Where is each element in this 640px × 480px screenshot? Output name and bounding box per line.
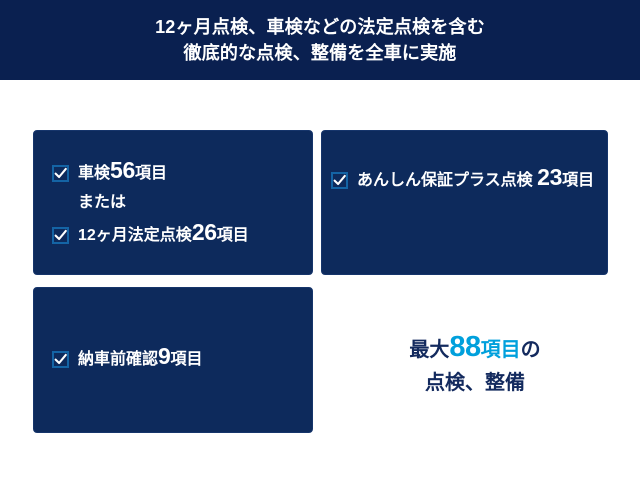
warranty-count-line: 23項目 (537, 172, 594, 189)
list-item-count: 26 (192, 219, 217, 245)
list-item: 車検56項目 (52, 158, 300, 186)
summary-total: 最大88項目の 点検、整備 (330, 330, 620, 399)
list-item: 12ヶ月法定点検26項目 (52, 220, 300, 248)
warranty-count: 23 (537, 164, 562, 190)
card-warranty-plus-inspection: あんしん保証プラス点検 23項目 (321, 130, 608, 275)
list-item-label-text: 車検 (78, 165, 110, 182)
header-title-line-1: 12ヶ月点検、車検などの法定点検を含む (155, 14, 485, 40)
card-warranty-plus-inspection-content: あんしん保証プラス点検 23項目 (331, 161, 597, 198)
list-item: 納車前確認9項目 (52, 344, 300, 372)
warranty-title: あんしん保証プラス点検 (357, 172, 533, 189)
list-item-label: あんしん保証プラス点検 23項目 (357, 161, 594, 198)
summary-suffix: の (521, 339, 541, 361)
list-item: または (52, 191, 300, 215)
summary-total-count: 88 (449, 331, 480, 363)
summary-prefix: 最大 (409, 339, 449, 361)
checkbox-checked-icon (52, 227, 69, 244)
list-item-count: 56 (110, 157, 135, 183)
card-vehicle-inspection-content: 車検56項目 または 12ヶ月法定点検26項目 (52, 158, 300, 248)
list-item-label: 納車前確認9項目 (78, 344, 203, 372)
list-item-label: 12ヶ月法定点検26項目 (78, 220, 249, 248)
summary-total-unit: 項目 (481, 339, 521, 361)
summary-total-line-2: 点検、整備 (330, 367, 620, 399)
checkbox-checked-icon (52, 165, 69, 182)
list-item-label-text: 12ヶ月法定点検 (78, 227, 192, 244)
checkbox-checked-icon (52, 351, 69, 368)
summary-total-line-1: 最大88項目の (330, 330, 620, 367)
header-title-line-2: 徹底的な点検、整備を全車に実施 (184, 40, 457, 66)
warranty-unit: 項目 (562, 172, 594, 189)
list-item-count: 9 (158, 343, 171, 369)
list-item-unit: 項目 (135, 165, 167, 182)
list-item-label-text: 納車前確認 (78, 351, 158, 368)
header-banner: 12ヶ月点検、車検などの法定点検を含む 徹底的な点検、整備を全車に実施 (0, 0, 640, 80)
list-item-unit: 項目 (171, 351, 203, 368)
card-predelivery-check-content: 納車前確認9項目 (52, 344, 300, 372)
card-predelivery-check: 納車前確認9項目 (33, 287, 313, 433)
checkbox-checked-icon (331, 172, 348, 189)
list-item-unit: 項目 (217, 227, 249, 244)
card-vehicle-inspection: 車検56項目 または 12ヶ月法定点検26項目 (33, 130, 313, 275)
list-item-label: 車検56項目 (78, 158, 167, 186)
list-item-label: または (78, 191, 126, 215)
